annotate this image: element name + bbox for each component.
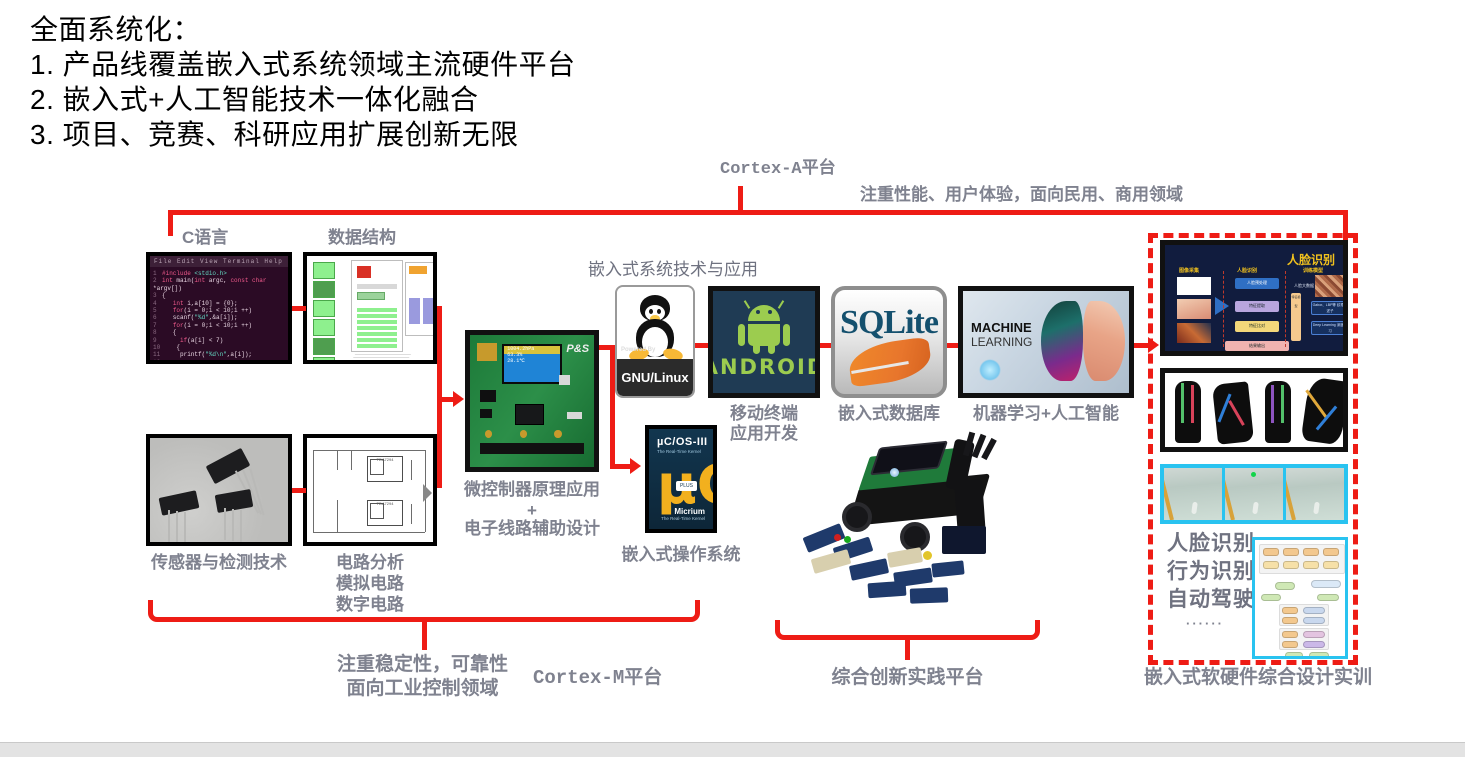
ucos-vendor-sub: The Real-Time Kernel (661, 516, 705, 521)
lane-marking (1225, 477, 1235, 520)
list-cell (313, 357, 335, 364)
nn-node (1282, 617, 1298, 624)
sqlite-card: SQLite (831, 286, 947, 398)
training-label: 嵌入式软硬件综合设计实训 (1118, 668, 1398, 688)
transistor-leg (232, 509, 234, 541)
board-to-ucos (610, 464, 632, 469)
connector-linux-android (695, 343, 709, 348)
robot-eye (756, 310, 760, 314)
component (559, 375, 570, 386)
face-col-2: 人脸识别 (1237, 267, 1257, 274)
robot-leg (768, 345, 775, 354)
pose-estimation-panel (1160, 368, 1348, 452)
red-node (357, 266, 371, 278)
arrow-to-board (453, 391, 464, 407)
sqlite-wordmark: SQLite (840, 304, 938, 342)
cortex-m-desc-1: 注重稳定性，可靠性 (300, 655, 545, 675)
driving-frame (1286, 468, 1344, 520)
slide-canvas: 全面系统化： 1. 产品线覆盖嵌入式系统领域主流硬件平台 2. 嵌入式+人工智能… (0, 0, 1465, 757)
face-panel-title: 人脸识别 (1287, 251, 1335, 268)
arrow-to-ai-panel (1148, 337, 1159, 353)
led-red (834, 534, 841, 541)
sqlite-label: 嵌入式数据库 (831, 404, 947, 424)
arrow-to-ucos (630, 458, 641, 474)
pad (554, 430, 561, 438)
cortex-m-stem (422, 620, 427, 650)
face-node-1: 人脸预处理 (1235, 278, 1279, 289)
nn-node (1323, 561, 1339, 569)
cortex-m-desc-2: 面向工业控制领域 (300, 679, 545, 699)
wire (313, 450, 314, 532)
face-node-4: 结果输出 (1225, 341, 1289, 351)
circuit-label-2: 模拟电路 (303, 574, 437, 594)
nn-node (1309, 652, 1329, 659)
ai-app-item-2: 行为识别 (1167, 558, 1255, 586)
nn-node (1303, 548, 1319, 556)
robot-arm (783, 324, 790, 346)
cortex-a-description: 注重性能、用户体验，面向民用、商用领域 (860, 185, 1183, 205)
embedded-section-title: 嵌入式系统技术与应用 (588, 260, 758, 280)
mecanum-wheel (842, 502, 872, 532)
nn-graph (1252, 537, 1348, 659)
lane-dash (1313, 502, 1320, 515)
connector (477, 343, 497, 361)
cortex-m-label: Cortex-M平台 (533, 668, 662, 688)
practice-platform-bracket (775, 620, 1040, 640)
practice-platform-stem (905, 638, 910, 660)
pin-header (480, 443, 584, 454)
glow-orb (979, 359, 1001, 381)
pose-skeletons (1165, 373, 1343, 447)
list-cell (313, 338, 335, 355)
robot-antenna (778, 300, 784, 309)
rtos-label: 嵌入式操作系统 (591, 545, 771, 565)
face-thumb (1177, 299, 1211, 319)
transistor-body (159, 490, 200, 516)
board-brand: P&S (566, 343, 589, 355)
ucos-book-cover: µC/OS-III The Real-Time Kernel µCI PLUS … (645, 425, 717, 533)
ucos-plus-badge: PLUS (676, 481, 697, 491)
nn-node (1303, 607, 1325, 614)
orange-node (409, 266, 427, 274)
connector-sensor-to-circuit (292, 488, 306, 493)
gnu-linux-name: GNU/Linux (621, 370, 688, 385)
data-structure-label: 数据结构 (328, 228, 396, 248)
nn-node (1303, 561, 1319, 569)
pad (520, 430, 527, 438)
gnu-linux-logo: Powered By GNU/Linux (617, 287, 693, 396)
pose-figure-standing (1175, 381, 1201, 443)
sqlite-feather (847, 336, 934, 387)
android-wordmark: ANDROID (708, 355, 820, 379)
header-line-2: 2. 嵌入式+人工智能技术一体化融合 (30, 82, 930, 117)
divider-dotted (1285, 271, 1286, 347)
sensor-module (849, 558, 889, 581)
list-cell (313, 262, 335, 279)
mcu-label-1: 微控制器原理应用 (455, 480, 609, 500)
circuit-schematic: TDA7294 TDA7294 (303, 434, 437, 546)
android-label-1: 移动终端 (708, 404, 820, 424)
sensor-photo (146, 434, 292, 546)
header-block: 全面系统化： 1. 产品线覆盖嵌入式系统领域主流硬件平台 2. 嵌入式+人工智能… (30, 12, 930, 152)
pose-figure-front (1265, 381, 1291, 443)
opamp-symbol (371, 504, 383, 518)
lane-marking (1164, 477, 1174, 520)
machine-learning-card: MACHINE LEARNING (958, 286, 1134, 398)
component (567, 412, 582, 420)
sensor-label: 传感器与检测技术 (146, 553, 292, 573)
sensor-module (811, 549, 852, 574)
lcd-text: 28.1℃ (504, 358, 560, 364)
circuit-label-1: 电路分析 (303, 553, 437, 573)
terminal-code: 1#include <stdio.h> 2int main(int argc, … (150, 267, 288, 364)
list-column (313, 262, 335, 364)
pose-figure-dancer (1301, 377, 1348, 446)
c-language-screenshot: File Edit View Terminal Help 1#include <… (146, 252, 292, 364)
terminal-menubar: File Edit View Terminal Help (150, 256, 288, 267)
android-card: ANDROID (708, 286, 820, 398)
tux-eye (649, 309, 653, 314)
data-structure-diagram (303, 252, 437, 364)
nn-node (1282, 641, 1298, 648)
powered-by-label: Powered By (621, 347, 655, 353)
sqlite-logo: SQLite (831, 286, 947, 398)
header-line-1: 1. 产品线覆盖嵌入式系统领域主流硬件平台 (30, 47, 930, 82)
screen-led (890, 468, 899, 477)
nn-node (1263, 561, 1279, 569)
lane-dash (1252, 502, 1259, 515)
list-cell (313, 319, 335, 336)
cortex-a-stem (738, 186, 743, 212)
ai-app-item-3: 自动驾驶 (1167, 586, 1255, 614)
component (480, 409, 492, 418)
divider-dotted (1223, 271, 1224, 347)
sensor-module (887, 547, 923, 568)
nn-node (1303, 631, 1325, 638)
ml-line-1: MACHINE (971, 320, 1032, 335)
wire (411, 504, 412, 524)
face-recognition-panel: 人脸识别 图像采集 人脸识别 训练模型 人脸预处理 特征提取 特征比对 结果输出… (1160, 240, 1348, 356)
list-cell (313, 281, 335, 298)
nn-node (1283, 548, 1299, 556)
nn-node (1317, 594, 1339, 601)
face-recognition-flow: 人脸识别 图像采集 人脸识别 训练模型 人脸预处理 特征提取 特征比对 结果输出… (1165, 245, 1343, 351)
machine-learning-image: MACHINE LEARNING (963, 291, 1129, 393)
bone (1191, 385, 1194, 423)
nn-node (1285, 652, 1303, 659)
face-node-2: 特征提取 (1235, 301, 1279, 312)
robot-head (748, 305, 780, 321)
blue-block (423, 298, 434, 324)
practice-platform-label: 综合创新实践平台 (790, 668, 1025, 688)
model-2: Deep Learning 深度学习 (1311, 321, 1348, 335)
wire (351, 450, 352, 470)
speaker-symbol (423, 484, 432, 502)
transistor-leg (168, 510, 170, 544)
robot-leg (753, 345, 760, 354)
gnu-linux-band: Powered By GNU/Linux (617, 359, 693, 396)
tux-eye (657, 309, 661, 314)
wire (337, 500, 338, 532)
cortex-m-bracket (148, 600, 700, 622)
lane-marking (1286, 477, 1296, 520)
face-col-1: 图像采集 (1179, 267, 1199, 274)
wire (411, 460, 412, 480)
amplifier-schematic: TDA7294 TDA7294 (307, 438, 433, 542)
mcu-chip (515, 404, 545, 425)
transistor-body (206, 448, 251, 484)
nn-node (1303, 641, 1325, 648)
component (480, 390, 496, 402)
flow-arrow (1215, 297, 1229, 315)
robot-car-photo (790, 430, 1040, 610)
nn-node (1311, 580, 1341, 588)
bone (1281, 385, 1284, 423)
sheet-stack (350, 352, 412, 364)
mcu-plus: + (455, 501, 609, 521)
lcd-display: 1004.2hPa 63.3% 28.1℃ (502, 344, 562, 384)
linked-list-graphic (307, 256, 433, 360)
wire (313, 450, 425, 451)
robot-antenna (744, 300, 750, 309)
detail-bar (357, 284, 397, 289)
transistor-leg (240, 510, 242, 542)
texture-sample (1315, 275, 1347, 297)
nn-node (1275, 582, 1295, 590)
top-bracket-horizontal (168, 210, 1348, 215)
ucos-vendor-name: Micrium (674, 507, 705, 516)
ml-label: 机器学习+人工智能 (958, 404, 1134, 424)
nn-node (1263, 548, 1279, 556)
sensor-module (910, 587, 949, 603)
nn-node (1283, 561, 1299, 569)
driving-frame (1225, 468, 1283, 520)
header-line-3: 3. 项目、竞赛、科研应用扩展创新无限 (30, 117, 930, 152)
brain-right-organic (1083, 301, 1125, 381)
nn-node (1282, 631, 1298, 638)
connector-c-to-ds (292, 306, 306, 311)
ml-caption: MACHINE LEARNING (971, 320, 1032, 350)
tracking-dot (1251, 472, 1256, 477)
transistor-body (215, 489, 254, 513)
ucos-title: µC/OS-III (657, 436, 708, 448)
crowd-thumb (1177, 323, 1211, 343)
pose-figure-running (1212, 381, 1254, 444)
wire (337, 450, 338, 470)
ucos-cover-art: µC/OS-III The Real-Time Kernel µCI PLUS … (649, 429, 713, 529)
autonomous-driving-frames (1160, 464, 1348, 524)
brain-left-circuit (1041, 301, 1083, 381)
sensor-module (931, 560, 964, 577)
sensor-module (868, 581, 907, 599)
feature-model-bar: 特征模型 (1291, 293, 1301, 341)
nn-node (1323, 548, 1339, 556)
ml-line-2: LEARNING (971, 335, 1032, 350)
bone (1271, 385, 1274, 423)
ai-app-item-1: 人脸识别 (1167, 530, 1255, 558)
neural-network-diagram (1252, 537, 1348, 659)
cortex-a-label: Cortex-A平台 (720, 160, 836, 180)
model-1: Gabor、LBP等 纹理描述子 (1311, 301, 1348, 315)
transistor-leg (184, 512, 186, 546)
c-language-label: C语言 (182, 228, 228, 248)
dev-board-photo: 1004.2hPa 63.3% 28.1℃ P&S (465, 330, 599, 472)
footer-bar (0, 742, 1465, 757)
ucos-vendor: Micrium The Real-Time Kernel (661, 507, 705, 521)
nn-node (1303, 617, 1325, 624)
detail-bar (357, 292, 385, 300)
page-title: 全面系统化： (30, 12, 930, 47)
robot-eye (768, 310, 772, 314)
nn-node (1261, 594, 1281, 601)
microcontroller-board: 1004.2hPa 63.3% 28.1℃ P&S (470, 335, 594, 467)
pad (485, 430, 492, 438)
robot-body (748, 324, 780, 346)
transistor-leg (224, 508, 226, 540)
face-node-3: 特征比对 (1235, 321, 1279, 332)
android-robot (736, 305, 792, 351)
lane-dash (1191, 502, 1198, 515)
top-bracket-left-stub (168, 210, 173, 236)
ai-app-more: ······ (1186, 616, 1224, 631)
list-cell (313, 300, 335, 317)
wire (313, 532, 425, 533)
green-stack (357, 308, 397, 348)
opamp-symbol (371, 460, 383, 474)
face-col-3: 训练模型 (1303, 267, 1323, 274)
driving-frame (1164, 468, 1222, 520)
controller-board (942, 526, 986, 554)
android-logo: ANDROID (713, 291, 815, 393)
led-green (844, 536, 851, 543)
led-yellow (923, 551, 932, 560)
nn-node (1282, 607, 1298, 614)
blue-block (409, 298, 420, 324)
robot-arm (738, 324, 745, 346)
driving-frame-strip (1160, 464, 1348, 524)
linux-card: Powered By GNU/Linux (615, 285, 695, 398)
camera-thumb (1177, 277, 1211, 295)
mcu-label-2: 电子线路辅助设计 (455, 519, 609, 539)
terminal-window: File Edit View Terminal Help 1#include <… (150, 256, 288, 360)
transistor-photo (150, 438, 288, 542)
transistor-leg (176, 511, 178, 545)
bone (1181, 383, 1184, 423)
